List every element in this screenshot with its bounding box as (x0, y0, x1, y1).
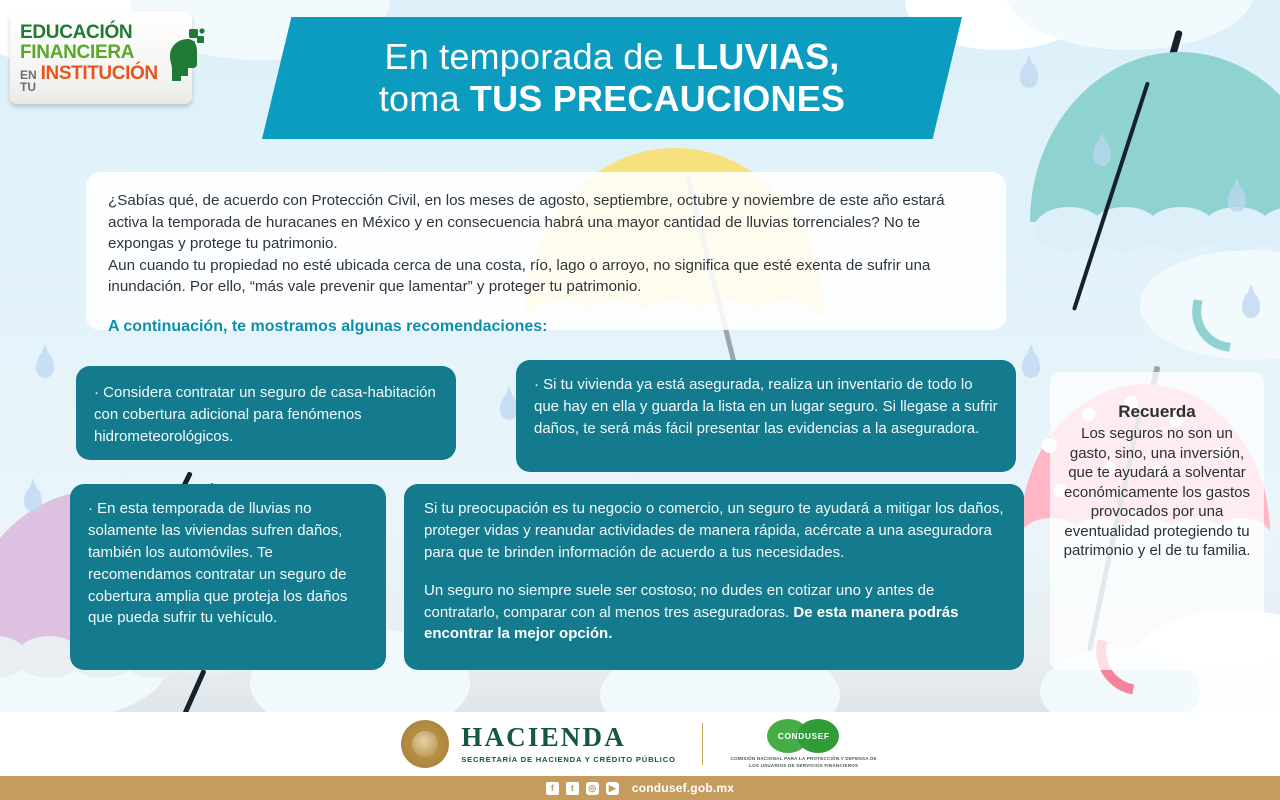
tip-text: · Si tu vivienda ya está asegurada, real… (534, 374, 998, 440)
page-title-line-2: toma TUS PRECAUCIONES (379, 78, 845, 120)
footer-logo-strip: HACIENDA SECRETARÍA DE HACIENDA Y CRÉDIT… (0, 712, 1280, 776)
title-line1-bold: LLUVIAS, (674, 36, 840, 77)
hacienda-logo: HACIENDA SECRETARÍA DE HACIENDA Y CRÉDIT… (401, 720, 675, 768)
tip-card-inventario: · Si tu vivienda ya está asegurada, real… (516, 360, 1016, 472)
remember-body: Los seguros no son un gasto, sino, una i… (1060, 424, 1254, 561)
instagram-icon[interactable]: ◎ (586, 782, 599, 795)
intro-paragraph-2: Aun cuando tu propiedad no esté ubicada … (108, 255, 984, 298)
condusef-mark-icon: CONDUSEF (767, 719, 841, 753)
head-puzzle-icon (158, 27, 206, 89)
logo-line-en-tu: EN TU (20, 69, 37, 93)
condusef-subtitle: COMISIÓN NACIONAL PARA LA PROTECCIÓN Y D… (729, 756, 879, 770)
footer-divider (702, 723, 703, 765)
intro-paragraph-1: ¿Sabías qué, de acuerdo con Protección C… (108, 190, 984, 255)
title-line2-light: toma (379, 78, 470, 119)
tip-text: · Considera contratar un seguro de casa-… (94, 382, 438, 448)
logo-line-financiera: FINANCIERA (20, 43, 158, 62)
remember-title: Recuerda (1060, 402, 1254, 422)
infographic-canvas: EDUCACIÓN FINANCIERA EN TU INSTITUCIÓN E… (0, 0, 1280, 800)
tip-card-negocio: Si tu preocupación es tu negocio o comer… (404, 484, 1024, 670)
tip-negocio-paragraph-1: Si tu preocupación es tu negocio o comer… (424, 498, 1004, 564)
logo-line-institucion: INSTITUCIÓN (41, 64, 158, 83)
raindrop-icon (1093, 140, 1111, 166)
condusef-logo: CONDUSEF COMISIÓN NACIONAL PARA LA PROTE… (729, 719, 879, 770)
tip-card-automoviles: · En esta temporada de lluvias no solame… (70, 484, 386, 670)
logo-wordmark: EDUCACIÓN FINANCIERA EN TU INSTITUCIÓN (20, 23, 158, 93)
raindrop-icon (1022, 352, 1040, 378)
tip-card-seguro-casa: · Considera contratar un seguro de casa-… (76, 366, 456, 460)
mexican-coat-of-arms-icon (401, 720, 449, 768)
condusef-name: CONDUSEF (767, 731, 841, 741)
raindrop-icon (1020, 62, 1038, 88)
page-title-line-1: En temporada de LLUVIAS, (385, 36, 840, 78)
hacienda-subtitle: SECRETARÍA DE HACIENDA Y CRÉDITO PÚBLICO (461, 756, 675, 764)
facebook-icon[interactable]: f (546, 782, 559, 795)
intro-text-card: ¿Sabías qué, de acuerdo con Protección C… (86, 172, 1006, 330)
raindrop-icon (1228, 186, 1246, 212)
raindrop-icon (1242, 292, 1260, 318)
raindrop-icon (24, 486, 42, 512)
website-link[interactable]: condusef.gob.mx (632, 781, 734, 795)
page-title-banner: En temporada de LLUVIAS, toma TUS PRECAU… (262, 17, 962, 139)
intro-subheading: A continuación, te mostramos algunas rec… (108, 316, 984, 339)
remember-card: Recuerda Los seguros no son un gasto, si… (1050, 372, 1264, 670)
twitter-icon[interactable]: t (566, 782, 579, 795)
logo-line-educacion: EDUCACIÓN (20, 23, 158, 42)
tip-text: · En esta temporada de lluvias no solame… (88, 498, 368, 629)
title-line2-bold: TUS PRECAUCIONES (470, 78, 845, 119)
tip-negocio-paragraph-2: Un seguro no siempre suele ser costoso; … (424, 580, 1004, 646)
youtube-icon[interactable]: ▶ (606, 782, 619, 795)
footer-social-bar: f t ◎ ▶ condusef.gob.mx (0, 776, 1280, 800)
education-financiera-logo: EDUCACIÓN FINANCIERA EN TU INSTITUCIÓN (10, 12, 192, 104)
hacienda-name: HACIENDA (461, 724, 675, 751)
title-line1-light: En temporada de (385, 36, 674, 77)
raindrop-icon (36, 352, 54, 378)
